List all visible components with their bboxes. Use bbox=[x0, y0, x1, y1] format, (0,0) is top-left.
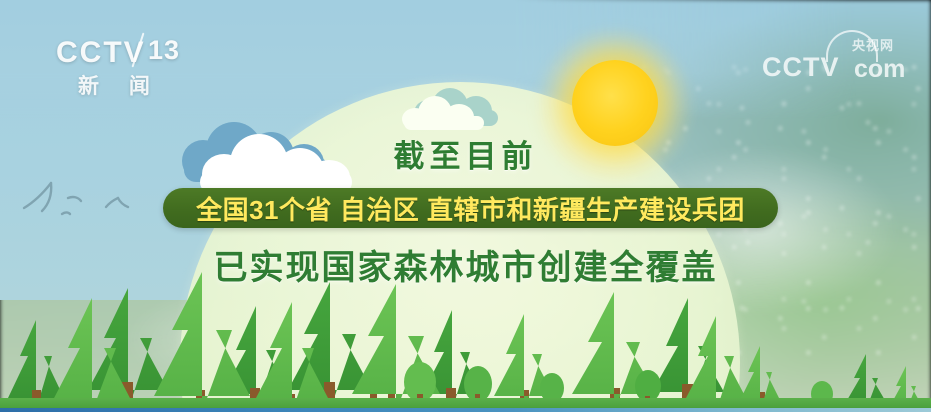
cctv-channel-name: 新 闻 bbox=[78, 70, 162, 100]
headline-banner-text: 全国31个省 自治区 直辖市和新疆生产建设兵团 bbox=[196, 190, 745, 227]
cloud-icon-small bbox=[402, 96, 488, 130]
watermark-chinese: 央视网 bbox=[852, 35, 894, 54]
bottom-strip bbox=[0, 408, 931, 412]
birds-icon-2 bbox=[104, 196, 130, 212]
forest-treeline bbox=[0, 262, 931, 412]
watermark-suffix: com bbox=[854, 55, 905, 84]
watermark-brand: CCTV bbox=[762, 52, 840, 83]
broadcast-graphic: 截至目前 全国31个省 自治区 直辖市和新疆生产建设兵团 已实现国家森林城市创建… bbox=[0, 0, 931, 412]
headline-line-1: 截至目前 bbox=[0, 131, 931, 176]
cctv-channel-number: 13 bbox=[148, 35, 180, 66]
birds-icon bbox=[18, 178, 90, 222]
headline-banner: 全国31个省 自治区 直辖市和新疆生产建设兵团 bbox=[163, 188, 778, 228]
